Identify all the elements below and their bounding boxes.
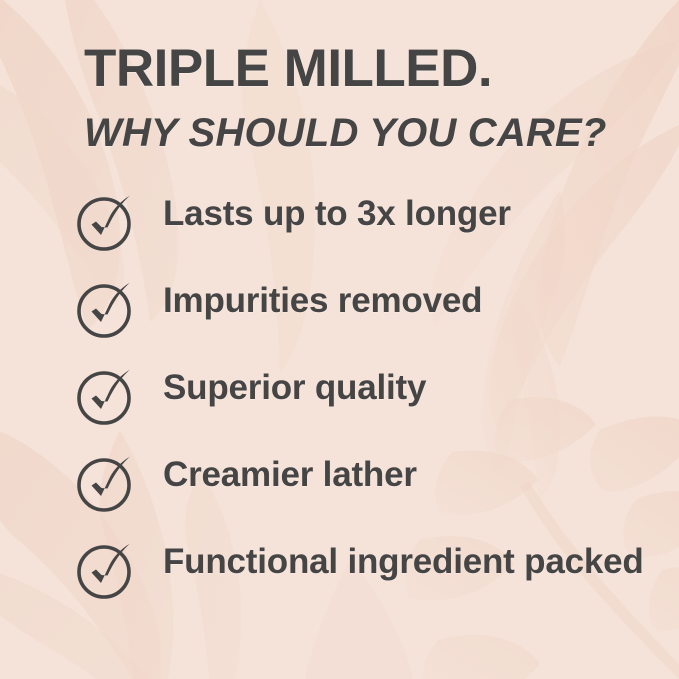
list-item: Lasts up to 3x longer — [76, 190, 656, 277]
circle-check-icon — [76, 453, 138, 515]
circle-check-icon — [76, 366, 138, 428]
page-subtitle: WHY SHOULD YOU CARE? — [84, 113, 654, 153]
benefit-label: Impurities removed — [163, 277, 656, 321]
headline-block: TRIPLE MILLED. WHY SHOULD YOU CARE? — [84, 42, 654, 153]
circle-check-icon — [76, 279, 138, 341]
circle-check-icon — [76, 540, 138, 602]
list-item: Superior quality — [76, 364, 656, 451]
list-item: Creamier lather — [76, 451, 656, 538]
list-item: Functional ingredient packed — [76, 538, 656, 625]
circle-check-icon — [76, 192, 138, 254]
promotional-poster: TRIPLE MILLED. WHY SHOULD YOU CARE? Last… — [0, 0, 679, 679]
benefit-label: Functional ingredient packed — [163, 538, 656, 582]
benefit-label: Superior quality — [163, 364, 656, 408]
list-item: Impurities removed — [76, 277, 656, 364]
benefit-list: Lasts up to 3x longer Impurities removed… — [76, 190, 656, 625]
page-title: TRIPLE MILLED. — [84, 42, 654, 95]
benefit-label: Creamier lather — [163, 451, 656, 495]
benefit-label: Lasts up to 3x longer — [163, 190, 656, 234]
poster-content: TRIPLE MILLED. WHY SHOULD YOU CARE? Last… — [0, 0, 679, 679]
